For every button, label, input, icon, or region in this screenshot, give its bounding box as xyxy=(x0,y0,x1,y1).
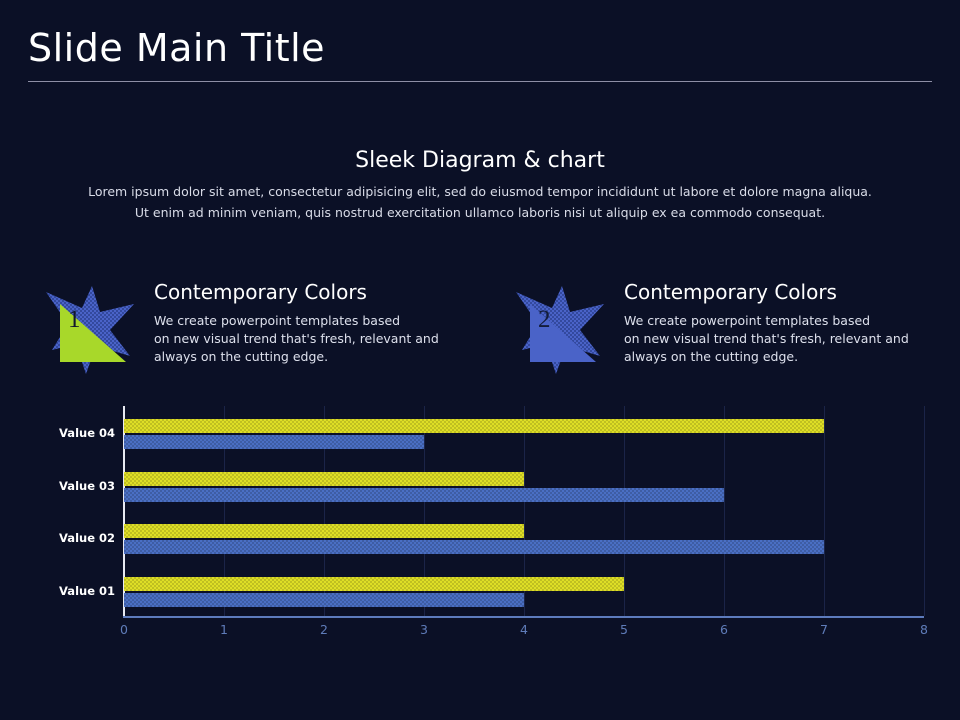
feature-block-1: 1 Contemporary Colors We create powerpoi… xyxy=(38,280,438,380)
chart-x-tick-label: 2 xyxy=(304,622,344,637)
chart-bar-group xyxy=(124,419,924,451)
chart-x-axis xyxy=(123,616,924,618)
header-divider xyxy=(28,81,932,82)
chart-category-labels: Value 04Value 03Value 02Value 01 xyxy=(10,406,115,616)
section-heading: Sleek Diagram & chart xyxy=(0,148,960,173)
page-title: Slide Main Title xyxy=(28,26,325,70)
chart-gridline xyxy=(924,406,925,616)
chart-bar xyxy=(124,472,524,486)
feature-desc-line-1: We create powerpoint templates based xyxy=(154,312,444,330)
feature-desc-line-3: always on the cutting edge. xyxy=(154,348,444,366)
chart-bar xyxy=(124,524,524,538)
star-burst-icon xyxy=(38,284,146,376)
chart-bar xyxy=(124,435,424,449)
chart-plot-area xyxy=(124,406,924,616)
star-burst-icon xyxy=(508,284,616,376)
section-paragraph-line-1: Lorem ipsum dolor sit amet, consectetur … xyxy=(60,181,900,202)
feature-description-2: We create powerpoint templates based on … xyxy=(624,312,914,366)
chart-bar xyxy=(124,419,824,433)
feature-desc-line-3: always on the cutting edge. xyxy=(624,348,914,366)
section-paragraph-line-2: Ut enim ad minim veniam, quis nostrud ex… xyxy=(60,202,900,223)
chart-category-label: Value 02 xyxy=(15,531,115,545)
chart-bar xyxy=(124,577,624,591)
chart-category-label: Value 01 xyxy=(15,584,115,598)
chart-x-tick-label: 1 xyxy=(204,622,244,637)
chart-x-tick-label: 5 xyxy=(604,622,644,637)
feature-text-1: Contemporary Colors We create powerpoint… xyxy=(154,280,444,366)
section-paragraph: Lorem ipsum dolor sit amet, consectetur … xyxy=(60,181,900,223)
chart-bar-group xyxy=(124,524,924,556)
feature-block-2: 2 Contemporary Colors We create powerpoi… xyxy=(508,280,908,380)
chart-x-tick-label: 3 xyxy=(404,622,444,637)
feature-desc-line-1: We create powerpoint templates based xyxy=(624,312,914,330)
chart-x-tick-label: 0 xyxy=(104,622,144,637)
chart-x-tick-label: 4 xyxy=(504,622,544,637)
chart-x-tick-label: 6 xyxy=(704,622,744,637)
feature-title-1: Contemporary Colors xyxy=(154,280,444,304)
feature-number-1: 1 xyxy=(68,306,81,334)
feature-title-2: Contemporary Colors xyxy=(624,280,914,304)
feature-description-1: We create powerpoint templates based on … xyxy=(154,312,444,366)
feature-text-2: Contemporary Colors We create powerpoint… xyxy=(624,280,914,366)
chart-x-tick-label: 8 xyxy=(904,622,944,637)
chart-bar-group xyxy=(124,577,924,609)
chart-category-label: Value 03 xyxy=(15,479,115,493)
chart-bar xyxy=(124,593,524,607)
chart-bar xyxy=(124,540,824,554)
slide-header: Slide Main Title xyxy=(0,0,960,92)
bar-chart: Value 04Value 03Value 02Value 01 0123456… xyxy=(0,396,960,646)
feature-desc-line-2: on new visual trend that's fresh, releva… xyxy=(154,330,444,348)
feature-number-2: 2 xyxy=(538,306,551,334)
chart-category-label: Value 04 xyxy=(15,426,115,440)
chart-bar-group xyxy=(124,472,924,504)
chart-x-tick-label: 7 xyxy=(804,622,844,637)
chart-bar xyxy=(124,488,724,502)
feature-desc-line-2: on new visual trend that's fresh, releva… xyxy=(624,330,914,348)
